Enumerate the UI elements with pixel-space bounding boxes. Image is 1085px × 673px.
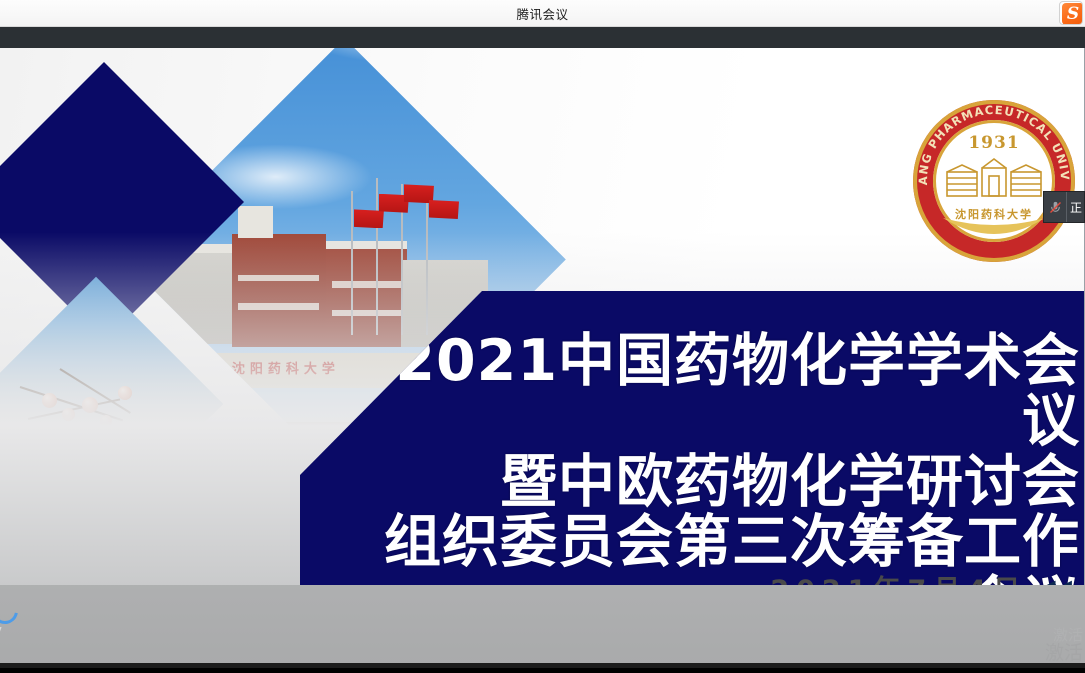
slide-date-text: 2021年7月4日 [770,568,1027,585]
logo-year: 1931 [908,133,1080,153]
logo-building-icon [944,158,1044,200]
tencent-meeting-window: 腾讯会议 S [0,0,1085,673]
ime-badge-letter: S [1062,3,1083,25]
activation-watermark: 激活 激活 [1045,628,1083,664]
shared-screen-stage: 沈阳药科大学 [0,48,1085,668]
watermark-line-1: 激活 [1045,628,1083,644]
sogou-input-icon[interactable]: S [1059,1,1083,25]
slide-date: 2021年7月4日 ◀◀ [700,568,1070,585]
loading-status: 27 [0,598,36,650]
status-counter: 27 [0,626,3,641]
window-title: 腾讯会议 [516,4,568,23]
window-title-bar: 腾讯会议 S [0,0,1085,27]
microphone-muted-icon[interactable] [1044,192,1066,222]
stage-bottom-border [0,663,1085,668]
loading-spinner-icon [0,593,23,629]
presentation-slide: 沈阳药科大学 [0,48,1085,585]
slide-title-line-2: 暨中欧药物化学研讨会 [380,452,1080,512]
participant-name: 正 [1066,192,1082,222]
watermark-line-2: 激活 [1045,644,1083,664]
slide-title-line-1: 2021中国药物化学学术会议 [380,331,1080,452]
meeting-toolbar-band [0,27,1085,48]
rewind-icon: ◀◀ [1037,574,1070,586]
shenyang-pharmaceutical-university-logo: SHENYANG PHARMACEUTICAL UNIVERSITY 1931 [908,96,1080,281]
participant-thumbnail[interactable]: 正 [1043,191,1085,223]
slide-title: 2021中国药物化学学术会议 暨中欧药物化学研讨会 组织委员会第三次筹备工作会议 [380,331,1080,585]
